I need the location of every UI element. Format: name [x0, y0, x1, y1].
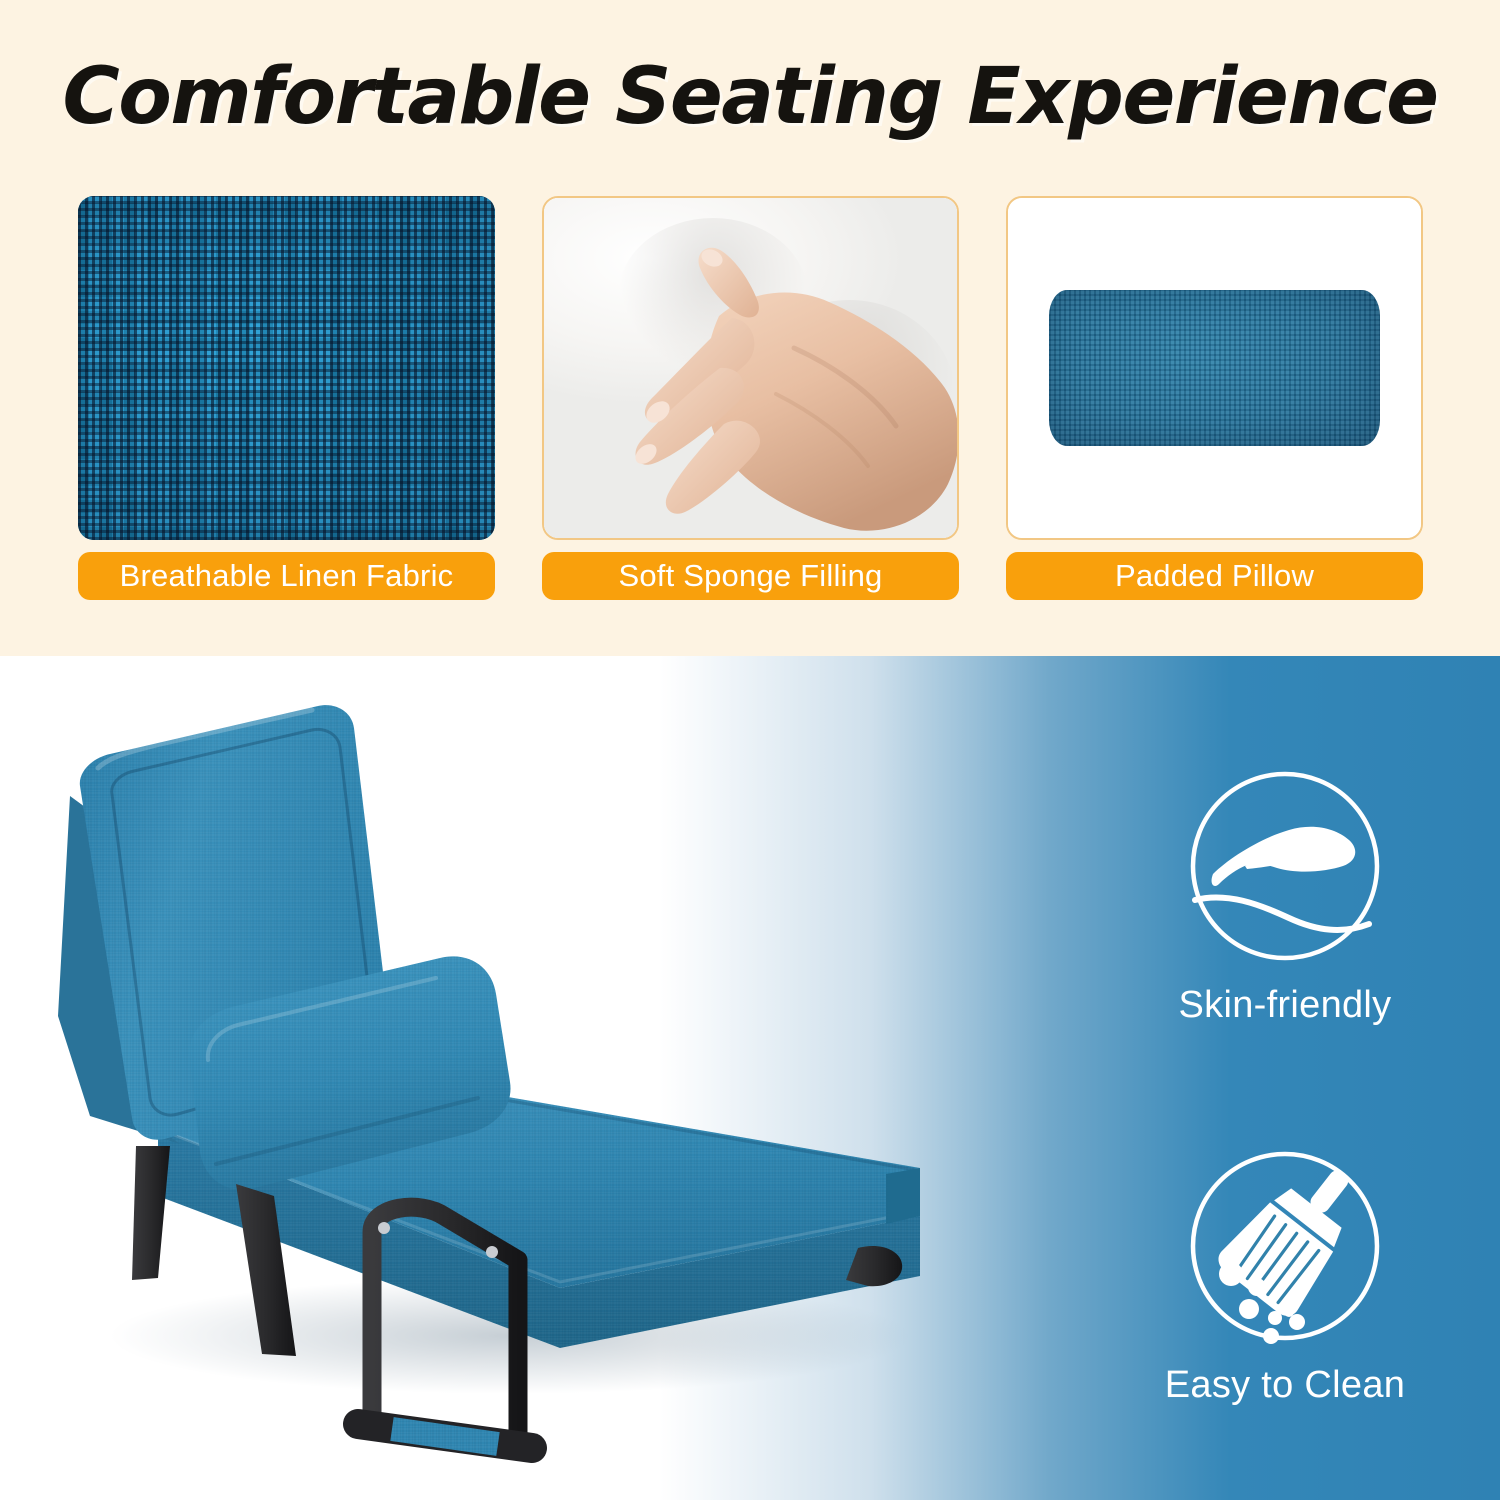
benefit-easy-to-clean: Easy to Clean	[1105, 1146, 1465, 1407]
page-title: Comfortable Seating Experience	[0, 52, 1500, 142]
chair-leg	[132, 1146, 170, 1280]
benefit-label-easy-to-clean: Easy to Clean	[1105, 1364, 1465, 1407]
product-showcase-section: Skin-friendly	[0, 656, 1500, 1500]
pillow-photo	[1008, 198, 1421, 538]
benefit-label-skin-friendly: Skin-friendly	[1105, 984, 1465, 1027]
product-image-chaise-lounge	[40, 676, 960, 1476]
header-section: Comfortable Seating Experience Breathabl…	[0, 0, 1500, 656]
fabric-swatch-image	[78, 196, 495, 540]
feature-card-breathable-linen-fabric: Breathable Linen Fabric	[78, 196, 495, 600]
brush-sweeping-dust-icon	[1105, 1146, 1465, 1346]
pressing-hand-illustration	[544, 198, 959, 540]
product-feature-infographic: Comfortable Seating Experience Breathabl…	[0, 0, 1500, 1500]
feature-card-list: Breathable Linen Fabric	[78, 196, 1423, 600]
feature-card-soft-sponge-filling: Soft Sponge Filling	[542, 196, 959, 600]
feature-card-padded-pillow: Padded Pillow	[1006, 196, 1423, 600]
foam-photo	[544, 198, 957, 538]
pillow-body	[1049, 290, 1379, 446]
feature-label-padded-pillow: Padded Pillow	[1006, 552, 1423, 600]
feature-label-breathable-linen-fabric: Breathable Linen Fabric	[78, 552, 495, 600]
feature-label-soft-sponge-filling: Soft Sponge Filling	[542, 552, 959, 600]
hand-over-wave-icon	[1105, 766, 1465, 966]
chaise-lounge-illustration	[40, 676, 960, 1476]
sponge-filling-image	[542, 196, 959, 540]
linen-texture	[78, 196, 495, 540]
benefit-skin-friendly: Skin-friendly	[1105, 766, 1465, 1027]
padded-pillow-image	[1006, 196, 1423, 540]
